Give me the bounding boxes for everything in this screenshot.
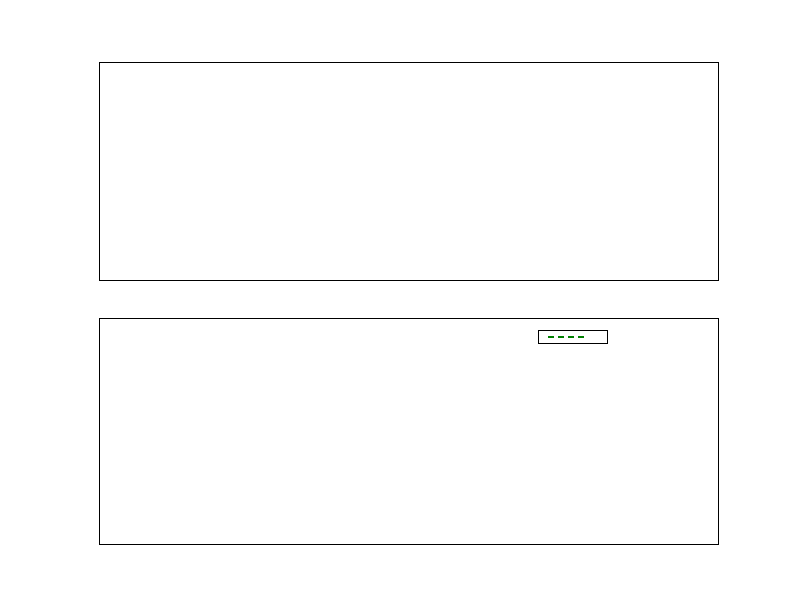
- figure-canvas: [0, 0, 800, 600]
- cumulative-curve-plot: [100, 319, 718, 544]
- bottom-cumulative-axes: [99, 318, 719, 545]
- top-histogram-plot: [100, 63, 718, 280]
- top-histogram-axes: [99, 62, 719, 281]
- legend: [538, 330, 608, 344]
- mag-limit-line-swatch: [548, 336, 584, 338]
